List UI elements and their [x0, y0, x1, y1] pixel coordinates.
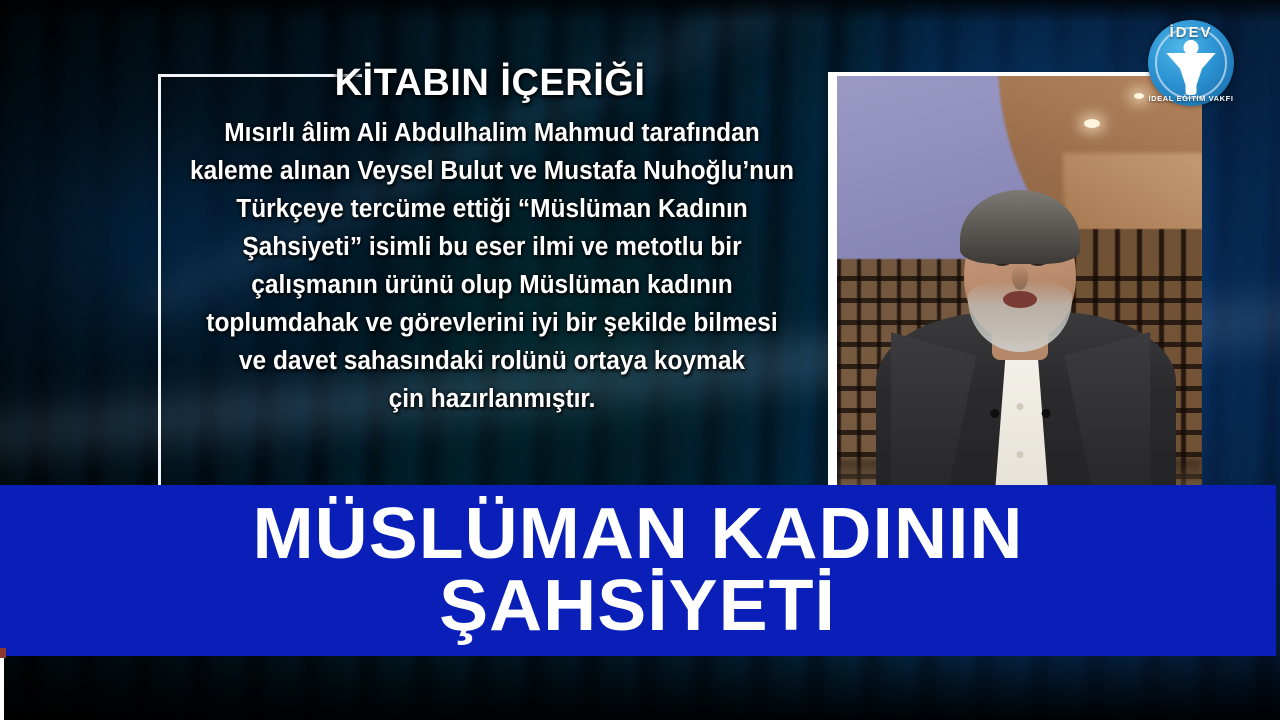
banner-title-line-1: MÜSLÜMAN KADININ: [252, 500, 1023, 569]
logo-fullname: İDEAL EĞİTİM VAKFI: [1148, 94, 1234, 103]
lapel-microphone-icon: [990, 409, 999, 418]
background-bottom-shade: [0, 650, 1280, 720]
paragraph-line: çalışmanın ürünü olup Müslüman kadının: [179, 266, 805, 304]
left-edge-white-strip: [0, 648, 4, 720]
video-inset-content: [837, 76, 1202, 502]
logo-figure-head-icon: [1184, 40, 1199, 55]
bracket-vertical-rule: [158, 74, 161, 486]
logo-figure-stem-icon: [1186, 73, 1197, 95]
presenter-nose: [1012, 264, 1028, 290]
background-top-shade: [0, 0, 1280, 22]
title-banner-text: MÜSLÜMAN KADININ ŞAHSİYETİ: [0, 485, 1276, 656]
paragraph-line: Mısırlı âlim Ali Abdulhalim Mahmud taraf…: [179, 114, 805, 152]
idev-logo: İDEV İDEAL EĞİTİM VAKFI: [1148, 20, 1234, 106]
paragraph-line: kaleme alınan Veysel Bulut ve Mustafa Nu…: [179, 152, 805, 190]
paragraph-line: Türkçeye tercüme ettiği “Müslüman Kadını…: [179, 190, 805, 228]
paragraph-line: çin hazırlanmıştır.: [179, 380, 805, 418]
content-paragraph: Mısırlı âlim Ali Abdulhalim Mahmud taraf…: [179, 114, 805, 418]
paragraph-line: Şahsiyeti” isimli bu eser ilmi ve metotl…: [179, 228, 805, 266]
content-heading: KİTABIN İÇERİĞİ: [170, 62, 810, 105]
shirt-button-icon: [1016, 451, 1023, 458]
title-banner: MÜSLÜMAN KADININ ŞAHSİYETİ: [0, 485, 1276, 656]
video-thumbnail-frame: KİTABIN İÇERİĞİ Mısırlı âlim Ali Abdulha…: [0, 0, 1280, 720]
banner-title-line-2: ŞAHSİYETİ: [440, 572, 837, 641]
paragraph-line: ve davet sahasındaki rolünü ortaya koyma…: [179, 342, 805, 380]
left-edge-red-marker: [0, 648, 6, 658]
presenter-mouth: [1003, 291, 1037, 308]
ceiling-light-icon: [1134, 93, 1144, 99]
lapel-microphone-icon: [1041, 409, 1050, 418]
shirt-button-icon: [1016, 403, 1023, 410]
logo-acronym: İDEV: [1148, 24, 1234, 41]
ceiling-light-icon: [1084, 119, 1100, 128]
paragraph-line: toplumdahak ve görevlerini iyi bir şekil…: [179, 304, 805, 342]
video-inset-frame: [828, 72, 1202, 502]
